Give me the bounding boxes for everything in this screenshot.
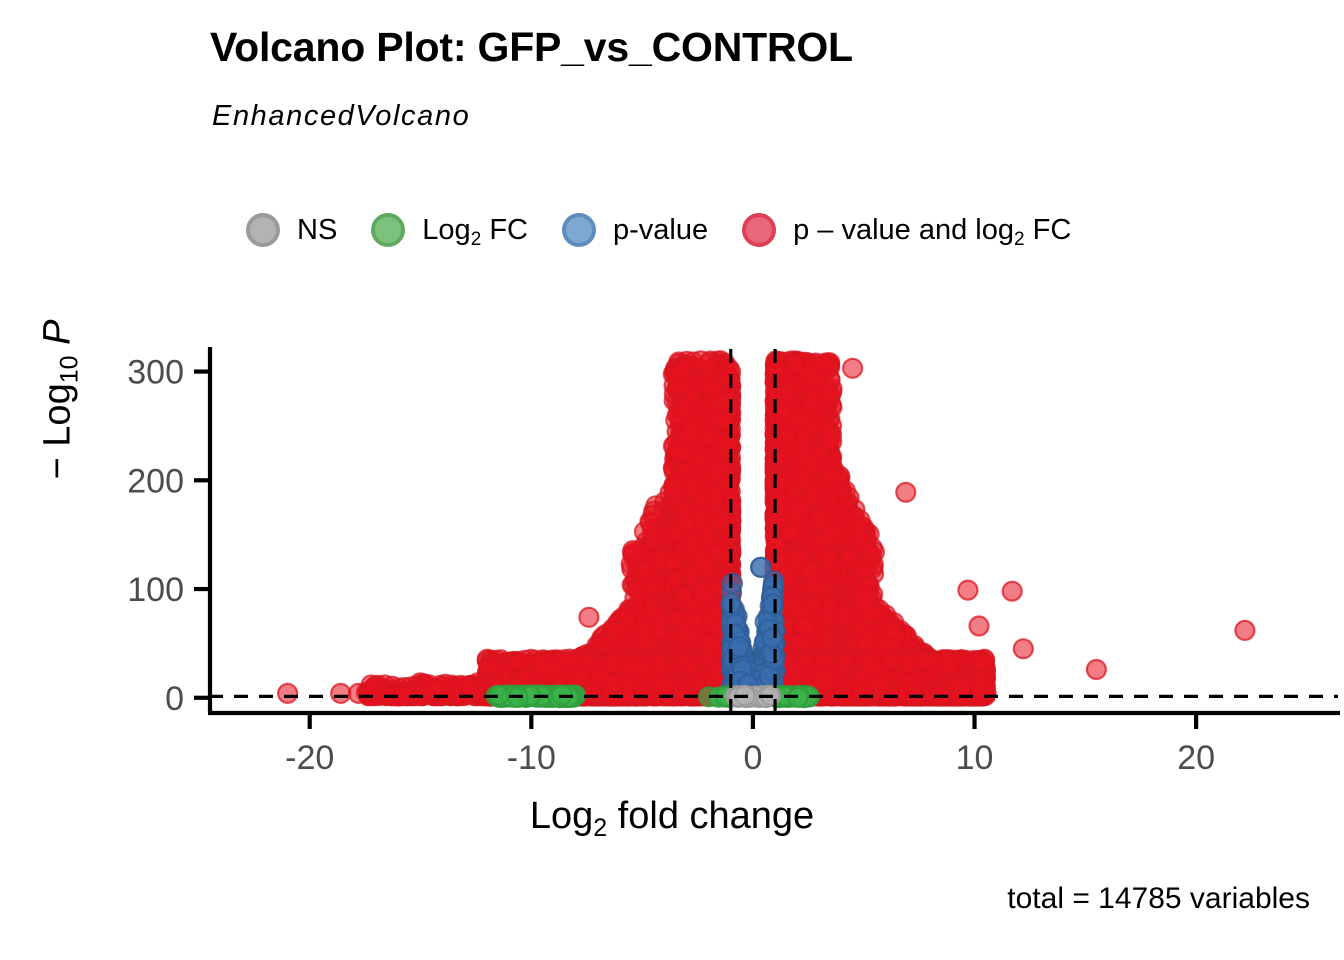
data-point — [632, 623, 651, 642]
data-point — [606, 622, 625, 641]
volcano-plot-figure: Volcano Plot: GFP_vs_CONTROL EnhancedVol… — [0, 0, 1344, 960]
data-point — [643, 600, 662, 619]
data-point — [623, 541, 642, 560]
data-points-layer — [278, 351, 1254, 707]
